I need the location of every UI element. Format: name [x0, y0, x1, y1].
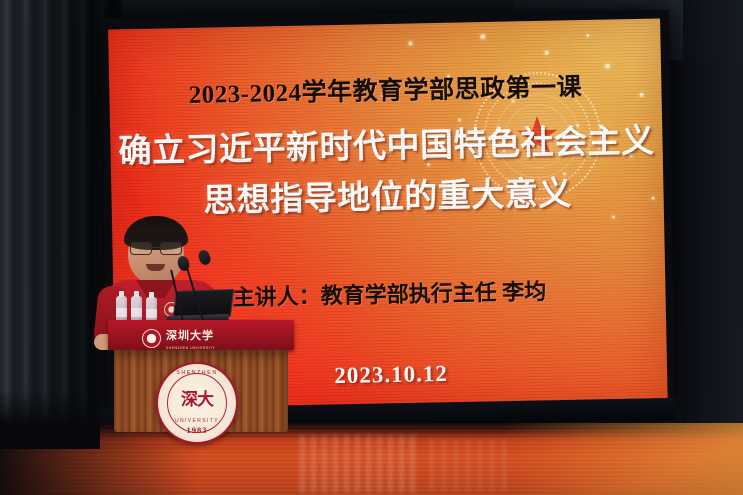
lectern-logo: 深圳大学 SHENZHEN UNIVERSITY: [142, 326, 215, 350]
floor-reflection-secondary: [430, 439, 510, 491]
stage-curtain-right: [683, 0, 743, 430]
seal-arc-bottom: UNIVERSITY: [158, 418, 236, 424]
slide-heading: 2023-2024学年教育学部思政第一课: [109, 65, 662, 112]
lectern-banner: 深圳大学 SHENZHEN UNIVERSITY: [108, 320, 294, 350]
foreground-shadow: [0, 389, 100, 449]
seal-year: 1983: [158, 425, 236, 435]
university-seal-icon: SHENZHEN 深大 UNIVERSITY 1983: [156, 362, 238, 444]
stage-floor: [0, 423, 743, 495]
photo-scene: 2023-2024学年教育学部思政第一课 确立习近平新时代中国特色社会主义 思想…: [0, 0, 743, 495]
floor-reflection: [300, 435, 420, 493]
seal-glyph: 深大: [174, 393, 220, 407]
lectern-banner-cn: 深圳大学: [166, 330, 214, 342]
university-seal-small-icon: [142, 329, 161, 348]
seal-arc-top: SHENZHEN: [158, 370, 236, 376]
slide-title-line-2: 思想指导地位的重大意义: [111, 164, 664, 223]
lectern: 深圳大学 SHENZHEN UNIVERSITY SHENZHEN 深大 UNI…: [108, 320, 294, 432]
floor-warm-light: [503, 423, 743, 495]
eyeglasses-icon: [130, 242, 182, 253]
slide-title-line-1: 确立习近平新时代中国特色社会主义: [110, 113, 663, 172]
